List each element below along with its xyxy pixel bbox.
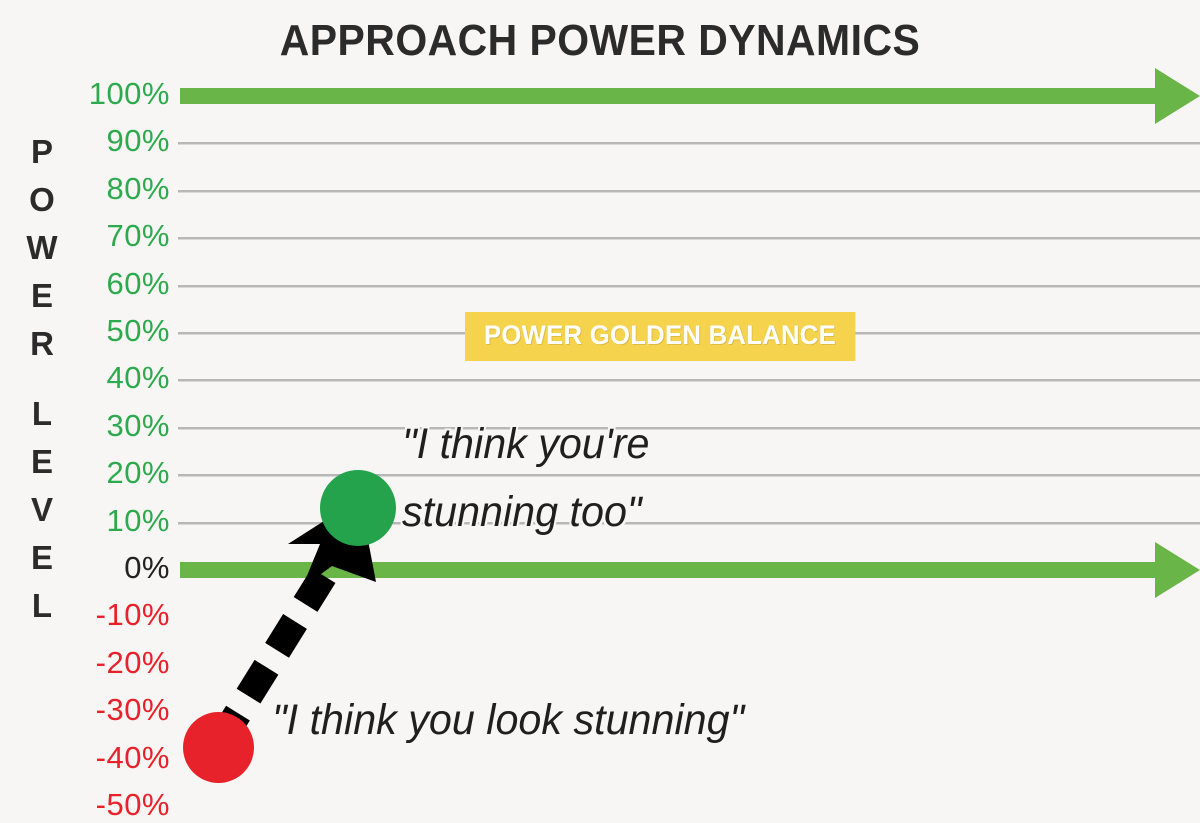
y-axis-tick-label: 20% [50,455,170,491]
y-axis-tick-label: 50% [50,313,170,349]
chart-canvas: APPROACH POWER DYNAMICS P O W E R L E V … [0,0,1200,813]
y-axis-tick-label: 100% [50,76,170,112]
gridline [178,142,1200,145]
y-axis-tick-label: 10% [50,503,170,539]
y-axis-tick-label: -30% [50,692,170,728]
y-axis-tick-label: -40% [50,740,170,776]
boundary-arrow [180,542,1200,598]
y-axis-tick-label: 0% [50,550,170,586]
y-axis-tick-label: 40% [50,360,170,396]
data-point-before[interactable] [183,712,254,783]
data-point-after[interactable] [320,470,396,546]
gridline [178,379,1200,382]
gridline [178,427,1200,430]
y-axis-tick-label: -20% [50,645,170,681]
golden-balance-badge: POWER GOLDEN BALANCE [465,312,855,361]
y-axis-tick-label: 30% [50,408,170,444]
boundary-arrow [180,68,1200,124]
page-title: APPROACH POWER DYNAMICS [42,16,1158,66]
y-axis-tick-label: 80% [50,171,170,207]
gridline [178,190,1200,193]
annotation-after-line1: "I think you're [402,420,649,468]
y-axis-tick-label: 90% [50,123,170,159]
gridline [178,237,1200,240]
y-axis-tick-label: 60% [50,266,170,302]
arrow-shaft [180,562,1165,578]
y-axis-tick-label: 70% [50,218,170,254]
annotation-after-line2: stunning too" [402,488,642,536]
gridline [178,474,1200,477]
y-axis-tick-label: -50% [50,787,170,823]
annotation-before: "I think you look stunning" [272,686,744,754]
annotation-after: "I think you'restunning too" [402,410,649,546]
arrow-head-icon [1155,68,1200,124]
arrow-shaft [180,88,1165,104]
y-axis-tick-label: -10% [50,597,170,633]
gridline [178,285,1200,288]
arrow-head-icon [1155,542,1200,598]
